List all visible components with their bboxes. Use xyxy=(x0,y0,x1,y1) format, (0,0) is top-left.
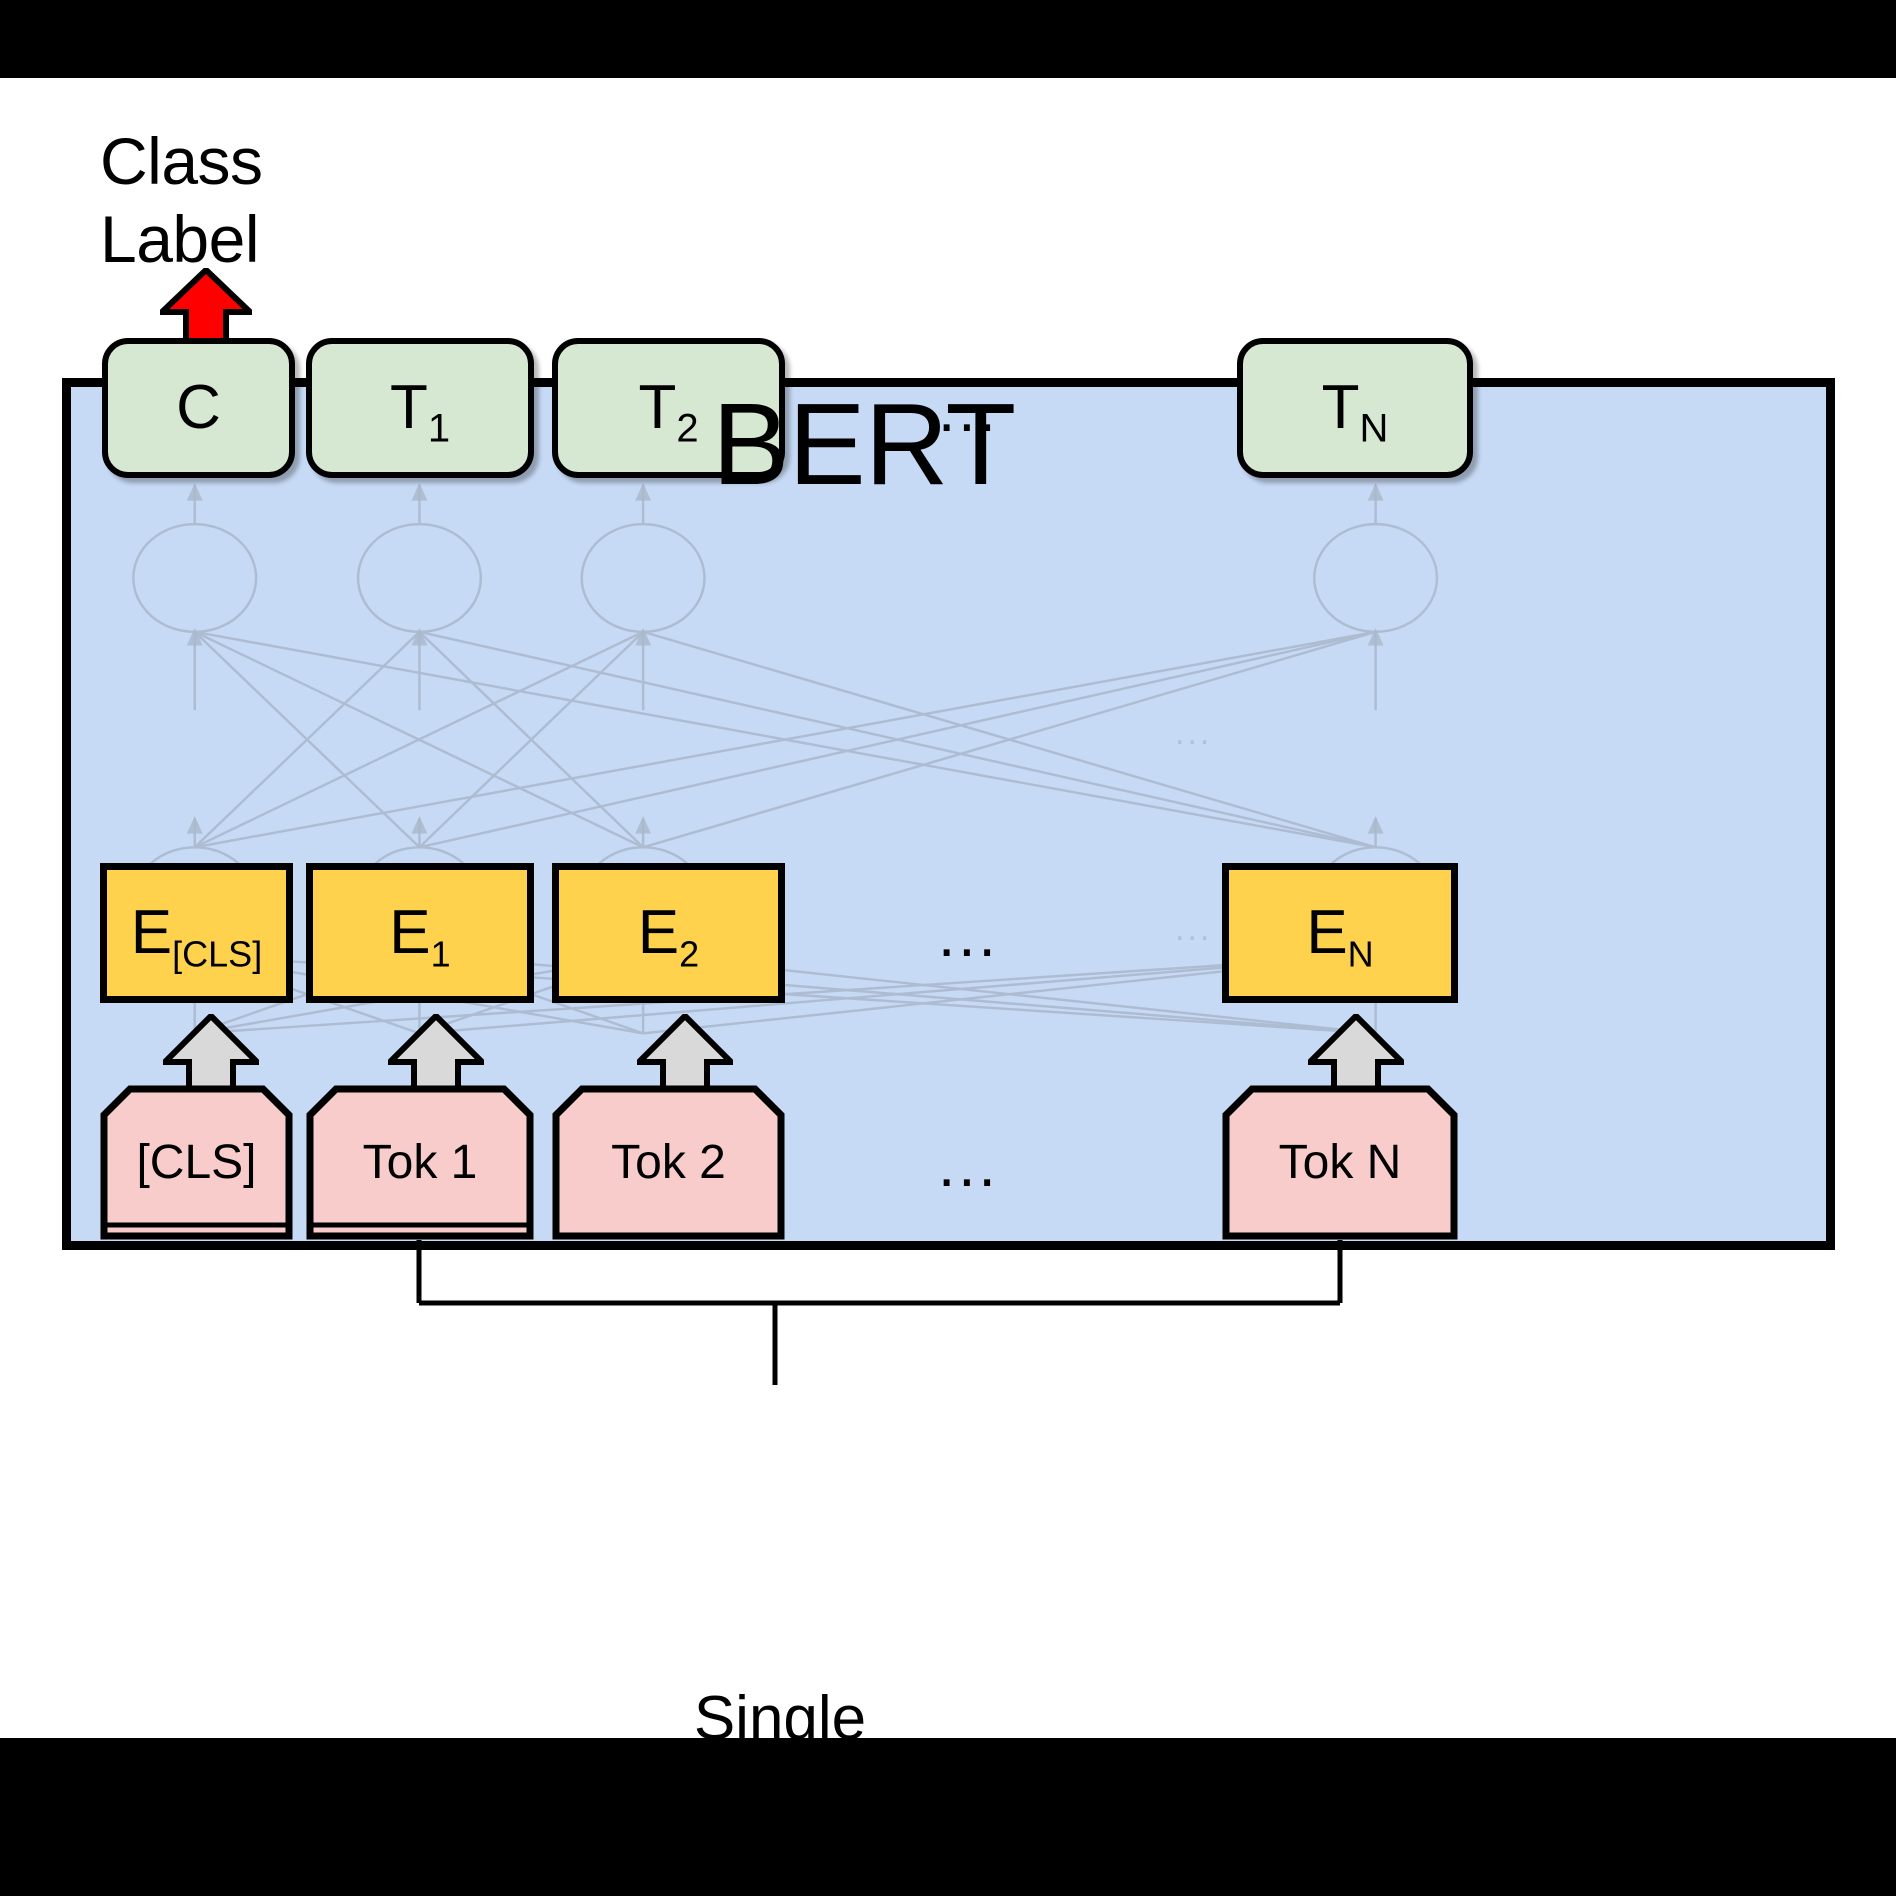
embedding-box-en-label: EN xyxy=(1306,902,1373,964)
token-box-tok1[interactable]: Tok 1 xyxy=(306,1085,534,1240)
single-sentence-caption: Single Sentence xyxy=(560,1688,1000,1812)
embedding-box-cls[interactable]: E[CLS] xyxy=(100,863,293,1003)
embedding-row-ellipsis: ... xyxy=(938,905,999,967)
bert-model-label: BERT xyxy=(712,386,1015,502)
input-arrow-tok2-icon xyxy=(637,1014,733,1094)
output-box-t2-label: T2 xyxy=(638,377,698,439)
token-box-cls-label: [CLS] xyxy=(100,1085,293,1240)
embedding-box-en[interactable]: EN xyxy=(1222,863,1458,1003)
embedding-box-e2-label: E2 xyxy=(638,902,699,964)
output-box-t1[interactable]: T1 xyxy=(306,338,534,478)
figure-canvas: Class Label xyxy=(0,0,1896,1896)
network-ellipsis-upper: ... xyxy=(1175,716,1212,750)
embedding-box-e1[interactable]: E1 xyxy=(306,863,534,1003)
embedding-box-e2[interactable]: E2 xyxy=(552,863,785,1003)
token-box-tok2-label: Tok 2 xyxy=(552,1085,785,1240)
network-ellipsis-lower: ... xyxy=(1175,912,1212,946)
input-arrow-tok1-icon xyxy=(388,1014,484,1094)
embedding-box-e1-label: E1 xyxy=(389,902,450,964)
token-box-tok1-label: Tok 1 xyxy=(306,1085,534,1240)
token-row-ellipsis: ... xyxy=(938,1135,999,1197)
output-box-t1-label: T1 xyxy=(390,377,450,439)
class-label-text: Class Label xyxy=(100,122,430,278)
class-label-arrow-icon xyxy=(160,268,252,348)
token-box-tok2[interactable]: Tok 2 xyxy=(552,1085,785,1240)
output-box-tn-label: TN xyxy=(1322,377,1389,439)
embedding-box-cls-label: E[CLS] xyxy=(131,902,262,964)
token-box-tokn-label: Tok N xyxy=(1222,1085,1458,1240)
output-box-c-label: C xyxy=(176,377,221,439)
input-arrow-tokn-icon xyxy=(1308,1014,1404,1094)
token-box-tokn[interactable]: Tok N xyxy=(1222,1085,1458,1240)
output-box-tn[interactable]: TN xyxy=(1237,338,1473,478)
input-arrow-cls-icon xyxy=(163,1014,259,1094)
token-box-cls[interactable]: [CLS] xyxy=(100,1085,293,1240)
output-box-c[interactable]: C xyxy=(102,338,295,478)
